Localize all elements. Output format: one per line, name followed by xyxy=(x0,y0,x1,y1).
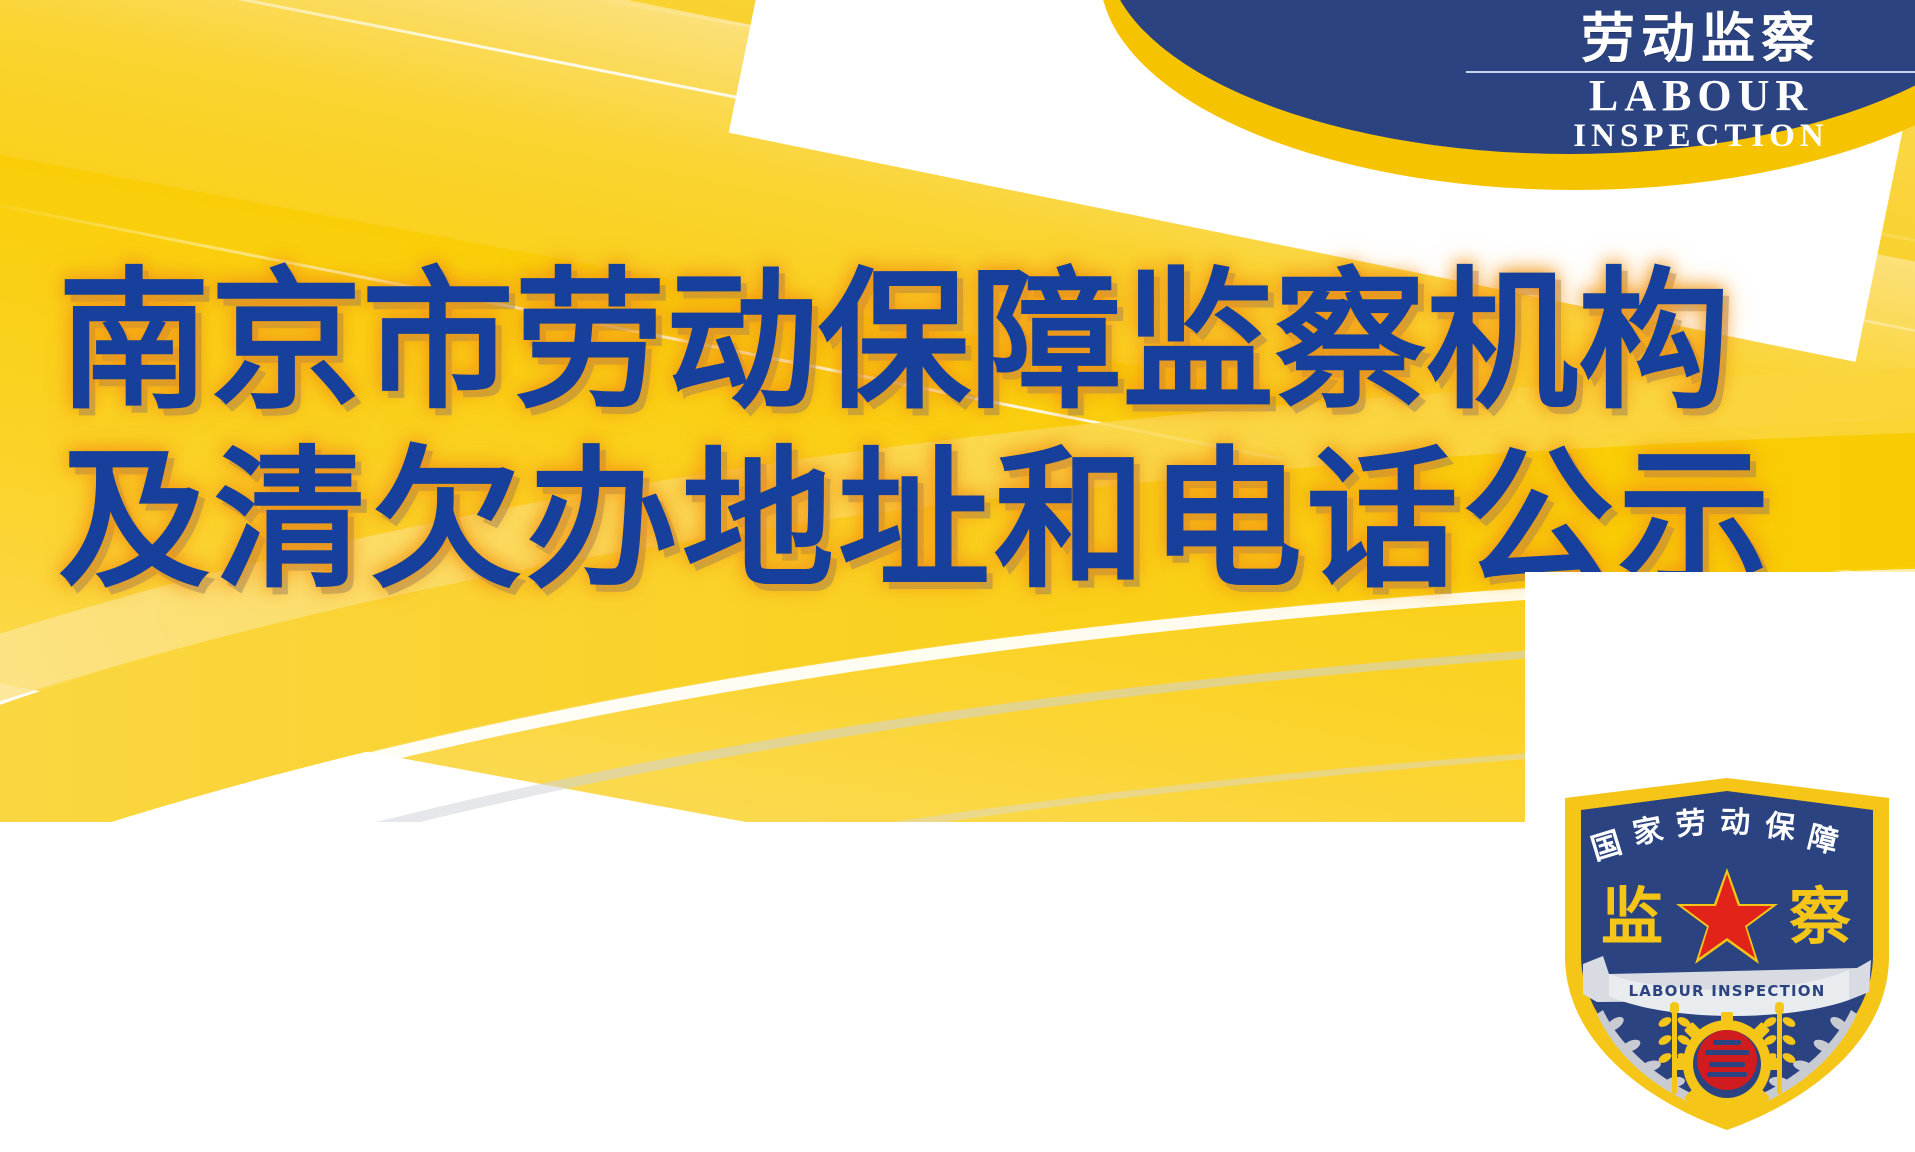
labour-inspection-ellipse-logo: 劳动监察 LABOUR INSPECTION xyxy=(1100,0,1915,190)
ellipse-logo-chinese: 劳动监察 xyxy=(1466,12,1915,66)
svg-text:动: 动 xyxy=(1720,805,1751,841)
title-line-1: 南京市劳动保障监察机构 xyxy=(58,252,1858,431)
shield-char-cha: 察 xyxy=(1789,880,1851,953)
ellipse-logo-english-inspection: INSPECTION xyxy=(1466,119,1915,154)
labour-inspection-shield-badge: 国 家 劳 动 保 障 监 察 LABOUR INSPECTION xyxy=(1557,778,1897,1130)
shield-char-jian: 监 xyxy=(1601,880,1663,953)
poster-canvas: 劳动监察 LABOUR INSPECTION 南京市劳动保障监察机构 及清欠办地… xyxy=(0,0,1915,1152)
ellipse-logo-english-labour: LABOUR xyxy=(1466,74,1915,119)
page-title: 南京市劳动保障监察机构 及清欠办地址和电话公示 xyxy=(58,252,1858,611)
badge-white-panel: 国 家 劳 动 保 障 监 察 LABOUR INSPECTION xyxy=(1525,572,1915,1152)
shield-gear-emblem xyxy=(1675,1012,1779,1116)
svg-text:保: 保 xyxy=(1763,808,1798,847)
ellipse-logo-text: 劳动监察 LABOUR INSPECTION xyxy=(1466,12,1915,154)
shield-ribbon-text: LABOUR INSPECTION xyxy=(1628,982,1825,1000)
svg-text:劳: 劳 xyxy=(1675,805,1708,842)
